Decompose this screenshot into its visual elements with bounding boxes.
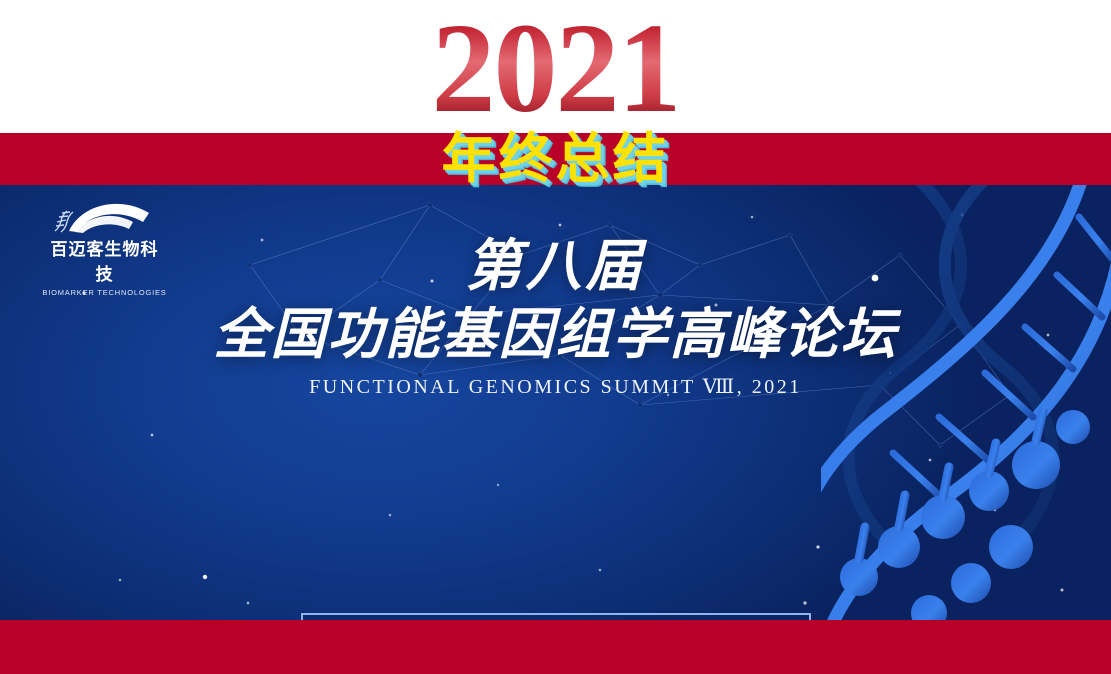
year-heading: 2021 [0, 6, 1111, 130]
footer-crimson-band [0, 620, 1111, 674]
conference-poster: 百迈客生物科技 BIOMARKER TECHNOLOGIES 第八届 全国功能基… [0, 185, 1111, 620]
header-white-area: 2021 [0, 0, 1111, 133]
year-summary-title: 年终总结 [0, 128, 1111, 190]
conference-subtitle-en: FUNCTIONAL GENOMICS SUMMIT Ⅷ, 2021 [0, 374, 1111, 399]
edition-title: 第八届 [0, 237, 1111, 297]
poster-page: 2021 年终总结 [0, 0, 1111, 674]
poster-headline: 第八届 全国功能基因组学高峰论坛 FUNCTIONAL GENOMICS SUM… [0, 185, 1111, 399]
session-banner: 单细胞空间时空多组学研究会场 [301, 613, 811, 620]
conference-title: 全国功能基因组学高峰论坛 [0, 303, 1111, 365]
